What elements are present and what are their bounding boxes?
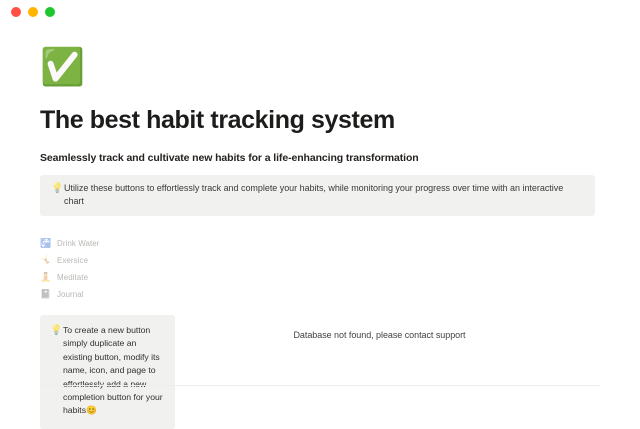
lower-left-column: 💡 To create a new button simply duplicat… — [40, 315, 175, 429]
page-content: ✅ The best habit tracking system Seamles… — [0, 48, 640, 429]
maximize-window-button[interactable] — [45, 7, 55, 17]
habit-button-list: 🚰 Drink Water 🤸 Exersice 🧘 Meditate 📓 Jo… — [40, 238, 600, 299]
cartwheel-icon: 🤸 — [40, 255, 51, 266]
minimize-window-button[interactable] — [28, 7, 38, 17]
info-callout-top-text: Utilize these buttons to effortlessly tr… — [64, 182, 583, 208]
notebook-icon: 📓 — [40, 289, 51, 300]
database-error-message: Database not found, please contact suppo… — [293, 329, 465, 342]
habit-label: Exersice — [57, 255, 88, 266]
info-callout-top: 💡 Utilize these buttons to effortlessly … — [40, 175, 595, 216]
chart-region: Database not found, please contact suppo… — [175, 315, 600, 342]
page-divider — [40, 385, 600, 386]
page-subtitle: Seamlessly track and cultivate new habit… — [40, 151, 600, 165]
habit-label: Meditate — [57, 272, 88, 283]
habit-label: Drink Water — [57, 238, 99, 249]
habit-button-meditate[interactable]: 🧘 Meditate — [40, 272, 600, 282]
light-bulb-icon: 💡 — [51, 182, 64, 195]
meditation-icon: 🧘 — [40, 272, 51, 283]
habit-button-journal[interactable]: 📓 Journal — [40, 289, 600, 299]
habit-button-exersice[interactable]: 🤸 Exersice — [40, 255, 600, 265]
potable-water-icon: 🚰 — [40, 238, 51, 249]
light-bulb-icon: 💡 — [50, 324, 63, 337]
white-check-mark-icon[interactable]: ✅ — [40, 48, 78, 86]
close-window-button[interactable] — [11, 7, 21, 17]
window-titlebar — [0, 0, 640, 24]
traffic-light-controls — [11, 7, 55, 17]
page-title: The best habit tracking system — [40, 105, 600, 135]
info-callout-bottom-text: To create a new button simply duplicate … — [63, 324, 165, 418]
info-callout-bottom: 💡 To create a new button simply duplicat… — [40, 315, 175, 429]
habit-button-drink-water[interactable]: 🚰 Drink Water — [40, 238, 600, 248]
habit-label: Journal — [57, 289, 84, 300]
lower-content-row: 💡 To create a new button simply duplicat… — [40, 315, 600, 429]
